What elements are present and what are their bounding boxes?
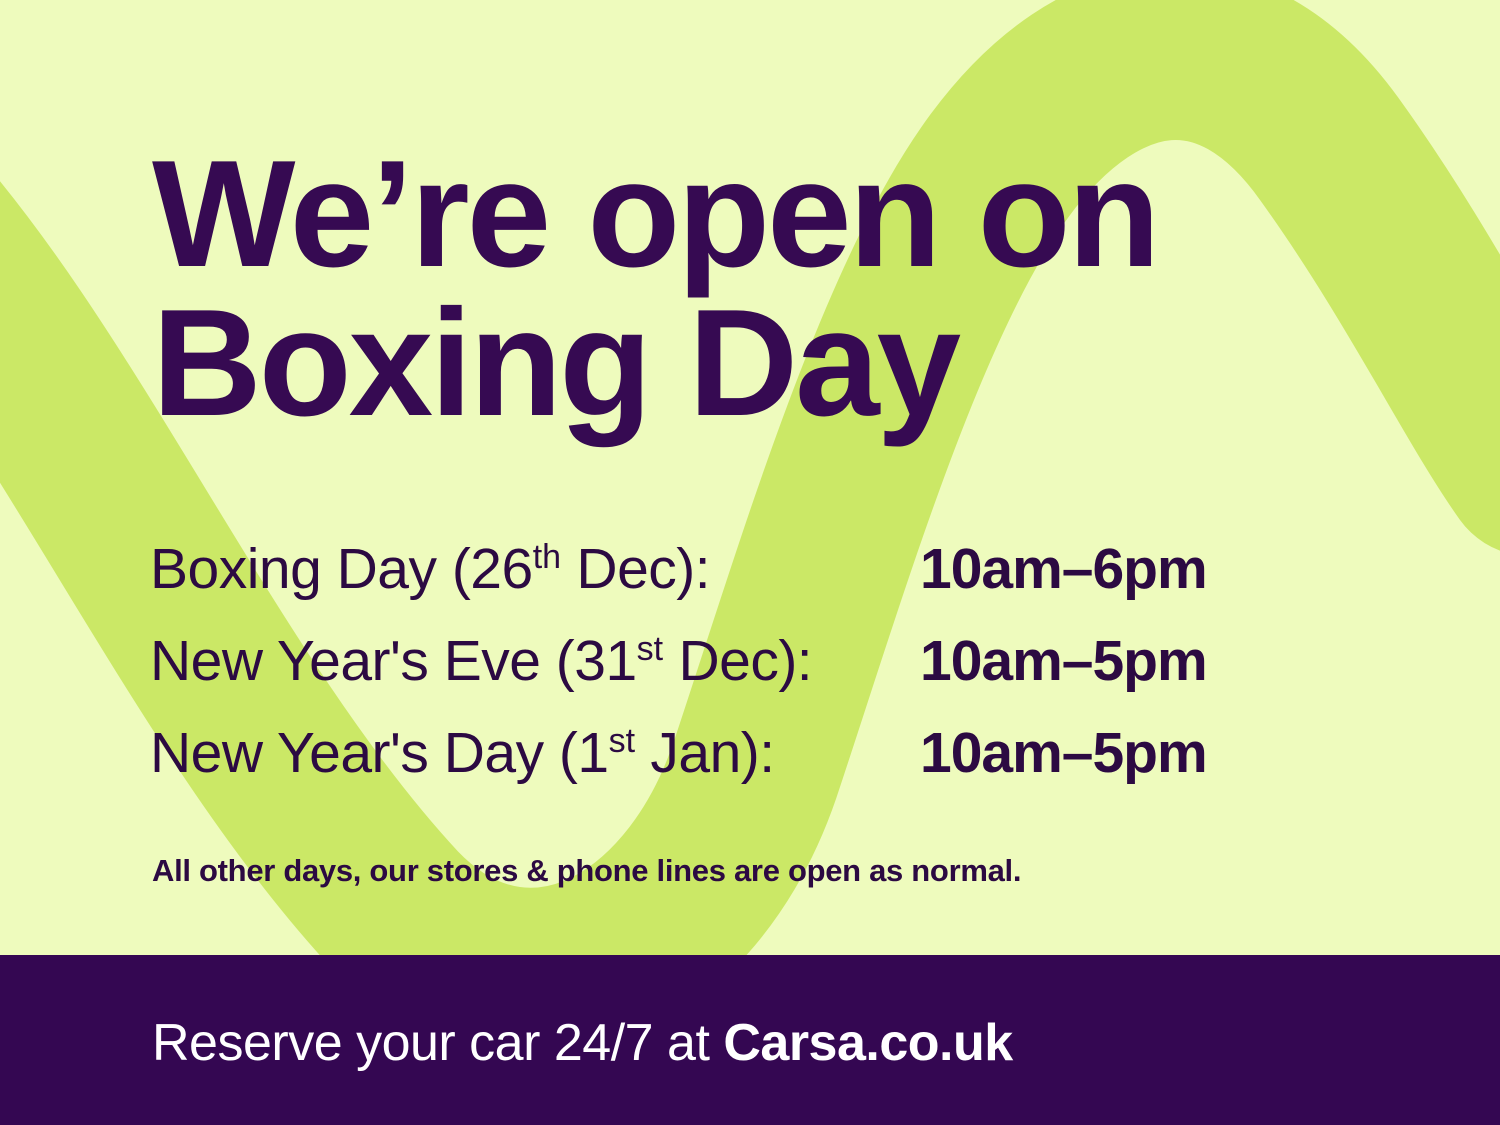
hours-label-cell: New Year's Eve (31st Dec): (150, 628, 920, 720)
hours-label-cell: New Year's Day (1st Jan): (150, 720, 920, 812)
fineprint-note: All other days, our stores & phone lines… (152, 853, 1021, 889)
hours-label-ordinal: st (637, 630, 663, 668)
brand-name[interactable]: Carsa.co.uk (723, 1014, 1012, 1072)
hours-label-ordinal: th (533, 538, 561, 576)
footer-cta: Reserve your car 24/7 at Carsa.co.uk (152, 1013, 1013, 1073)
page-title: We’re open on Boxing Day (152, 140, 1302, 438)
hours-value-cell: 10am–5pm (920, 720, 1330, 812)
promo-poster: We’re open on Boxing Day Boxing Day (26t… (0, 0, 1500, 1125)
hours-label-before: New Year's Eve (31 (150, 629, 637, 693)
table-row: Boxing Day (26th Dec): 10am–6pm (150, 536, 1330, 628)
hours-label-after: Dec): (561, 537, 710, 601)
hours-value-cell: 10am–6pm (920, 536, 1330, 628)
poster-content: We’re open on Boxing Day Boxing Day (26t… (0, 0, 1500, 955)
table-row: New Year's Day (1st Jan): 10am–5pm (150, 720, 1330, 812)
hours-value-cell: 10am–5pm (920, 628, 1330, 720)
opening-hours-table: Boxing Day (26th Dec): 10am–6pm New Year… (150, 536, 1330, 812)
hours-label-after: Jan): (635, 721, 775, 785)
hours-label-after: Dec): (663, 629, 812, 693)
footer-bar: Reserve your car 24/7 at Carsa.co.uk (0, 955, 1500, 1125)
footer-lead-text: Reserve your car 24/7 at (152, 1014, 723, 1072)
hours-label-cell: Boxing Day (26th Dec): (150, 536, 920, 628)
hours-label-before: New Year's Day (1 (150, 721, 609, 785)
hours-label-ordinal: st (609, 722, 635, 760)
table-row: New Year's Eve (31st Dec): 10am–5pm (150, 628, 1330, 720)
hours-label-before: Boxing Day (26 (150, 537, 533, 601)
